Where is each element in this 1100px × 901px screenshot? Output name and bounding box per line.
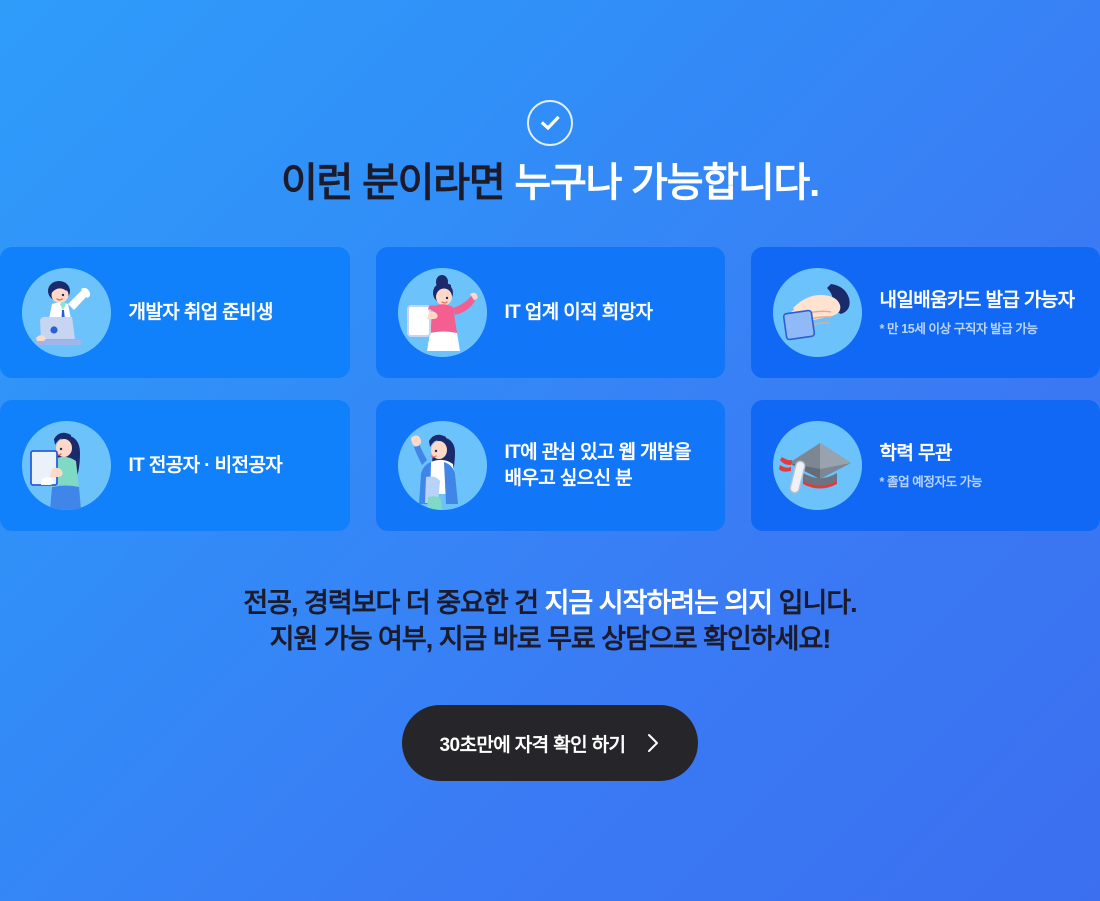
eligibility-card[interactable]: IT 업계 이직 희망자 xyxy=(376,247,725,378)
qualification-check-button[interactable]: 30초만에 자격 확인 하기 xyxy=(402,705,698,781)
page-title-dark: 이런 분이라면 xyxy=(281,161,505,205)
card-text: IT 업계 이직 희망자 xyxy=(505,300,653,326)
woman-waving-illustration xyxy=(398,421,487,510)
chevron-right-icon xyxy=(647,733,660,753)
eligibility-card[interactable]: 개발자 취업 준비생 xyxy=(0,247,350,378)
card-text: 학력 무관 * 졸업 예정자도 가능 xyxy=(880,441,982,491)
card-title: IT 전공자 · 비전공자 xyxy=(129,453,283,479)
card-note: * 만 15세 이상 구직자 발급 가능 xyxy=(880,318,1075,337)
card-title: 개발자 취업 준비생 xyxy=(129,300,273,326)
eligibility-card[interactable]: IT에 관심 있고 웹 개발을 배우고 싶으신 분 xyxy=(376,400,725,531)
subcopy-line-1-dark-a: 전공, 경력보다 더 중요한 건 xyxy=(243,588,538,618)
card-title: 학력 무관 xyxy=(880,441,982,467)
page-title-white: 누구나 가능합니다. xyxy=(514,161,819,205)
woman-reading-document-illustration xyxy=(22,421,111,510)
eligibility-card-grid: 개발자 취업 준비생 xyxy=(0,247,1100,531)
card-text: IT에 관심 있고 웹 개발을 배우고 싶으신 분 xyxy=(505,440,691,491)
card-title-line1: IT에 관심 있고 웹 개발을 xyxy=(505,440,691,466)
hand-holding-card-illustration xyxy=(773,268,862,357)
subcopy-line-1: 전공, 경력보다 더 중요한 건 지금 시작하려는 의지 입니다. xyxy=(0,585,1100,621)
eligibility-card[interactable]: IT 전공자 · 비전공자 xyxy=(0,400,350,531)
graduation-cap-illustration xyxy=(773,421,862,510)
page-title: 이런 분이라면 누구나 가능합니다. xyxy=(0,160,1100,206)
cta-label: 30초만에 자격 확인 하기 xyxy=(440,730,626,757)
subcopy: 전공, 경력보다 더 중요한 건 지금 시작하려는 의지 입니다. 지원 가능 … xyxy=(0,585,1100,658)
subcopy-line-1-dark-b: 입니다. xyxy=(779,588,857,618)
subcopy-line-1-white: 지금 시작하려는 의지 xyxy=(545,588,773,618)
eligibility-card[interactable]: 내일배움카드 발급 가능자 * 만 15세 이상 구직자 발급 가능 xyxy=(751,247,1100,378)
developer-with-laptop-illustration xyxy=(22,268,111,357)
card-text: 개발자 취업 준비생 xyxy=(129,300,273,326)
card-text: IT 전공자 · 비전공자 xyxy=(129,453,283,479)
card-text: 내일배움카드 발급 가능자 * 만 15세 이상 구직자 발급 가능 xyxy=(880,288,1075,338)
woman-with-tablet-illustration xyxy=(398,268,487,357)
subcopy-line-2: 지원 가능 여부, 지금 바로 무료 상담으로 확인하세요! xyxy=(0,621,1100,657)
eligibility-card[interactable]: 학력 무관 * 졸업 예정자도 가능 xyxy=(751,400,1100,531)
card-title: 내일배움카드 발급 가능자 xyxy=(880,288,1075,314)
card-note: * 졸업 예정자도 가능 xyxy=(880,471,982,490)
check-circle-icon xyxy=(527,100,573,146)
landing-section: 이런 분이라면 누구나 가능합니다. xyxy=(0,0,1100,901)
card-title-line2: 배우고 싶으신 분 xyxy=(505,466,691,492)
card-title: IT 업계 이직 희망자 xyxy=(505,300,653,326)
